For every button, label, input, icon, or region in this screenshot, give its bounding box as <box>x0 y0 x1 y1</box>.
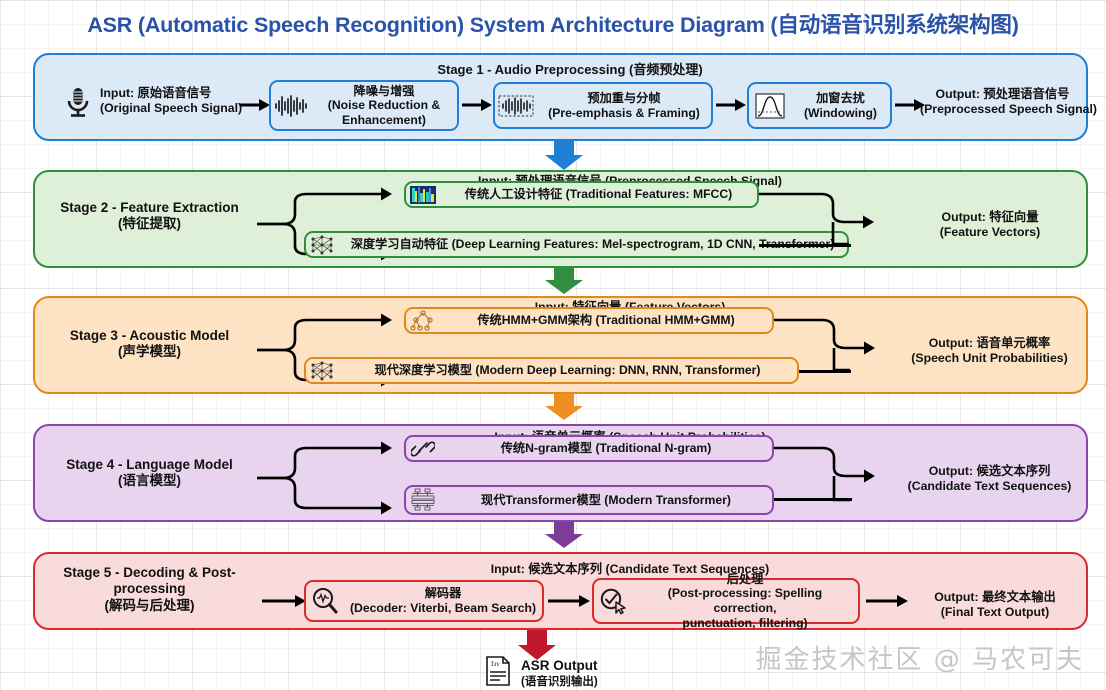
s4-out-line1: Output: 候选文本序列 <box>892 464 1087 479</box>
node-post-processing[interactable]: 后处理 (Post-processing: Spelling correctio… <box>592 578 860 624</box>
node-traditional-features-mfcc[interactable]: 传统人工设计特征 (Traditional Features: MFCC) <box>404 181 759 208</box>
spectrogram-icon <box>406 186 440 204</box>
s5-title-line2: processing <box>42 581 257 597</box>
stage-2-output-label: Output: 特征向量 (Feature Vectors) <box>900 210 1080 241</box>
page-title: ASR (Automatic Speech Recognition) Syste… <box>0 8 1106 39</box>
connector-stage3-to-stage4 <box>545 394 583 420</box>
connector-stage1-to-stage2 <box>545 141 583 170</box>
final-output-label: ASR Output (语音识别输出) <box>521 658 598 688</box>
pe-line1: 预加重与分帧 <box>587 91 660 105</box>
win-line2: (Windowing) <box>804 106 877 120</box>
s2-title-line2: (特征提取) <box>42 216 257 232</box>
window-curve-icon <box>749 92 791 120</box>
s5-title-line1: Stage 5 - Decoding & Post- <box>42 565 257 581</box>
node-windowing[interactable]: 加窗去扰 (Windowing) <box>747 82 892 129</box>
connector-stage2-to-stage3 <box>545 268 583 294</box>
stage-2-merge-connector <box>759 190 899 260</box>
s5-out-line1: Output: 最终文本输出 <box>905 590 1085 605</box>
s1-out-line2: (Preprocessed Speech Signal) <box>920 102 1085 117</box>
node-windowing-label: 加窗去扰 (Windowing) <box>791 91 890 120</box>
nr-line2: (Noise Reduction & <box>328 98 440 112</box>
node-pre-emphasis-label: 预加重与分帧 (Pre-emphasis & Framing) <box>537 91 711 120</box>
node-modern-transformer[interactable]: 现代Transformer模型 (Modern Transformer) <box>404 485 774 515</box>
connector-stage4-to-stage5 <box>545 522 583 548</box>
nr-line1: 降噪与增强 <box>354 84 415 98</box>
chain-link-icon <box>406 439 440 459</box>
stage-2-merge-lower-shaft <box>759 244 851 247</box>
tree-graph-icon <box>406 310 440 332</box>
node-modern-deep-learning-label: 现代深度学习模型 (Modern Deep Learning: DNN, RNN… <box>338 363 797 378</box>
pe-line2: (Pre-emphasis & Framing) <box>548 106 700 120</box>
dec-line2: (Decoder: Viterbi, Beam Search) <box>350 601 536 615</box>
stage-4-branch-connector <box>255 444 405 514</box>
stage-3-merge-lower-shaft <box>799 370 851 373</box>
s5-title-line3: (解码与后处理) <box>42 598 257 614</box>
asr-out-line1: ASR Output <box>521 658 598 673</box>
stage-1-header: Stage 1 - Audio Preprocessing (音频预处理) <box>410 59 730 78</box>
s2-out-line2: (Feature Vectors) <box>900 225 1080 240</box>
pp-line2: (Post-processing: Spelling correction, <box>668 586 822 615</box>
s3-title-line2: (声学模型) <box>42 344 257 360</box>
watermark: 掘金技术社区 @ 马农可夫 <box>755 639 1084 676</box>
stage-4-output-label: Output: 候选文本序列 (Candidate Text Sequences… <box>892 464 1087 495</box>
stage-3-output-label: Output: 语音单元概率 (Speech Unit Probabilitie… <box>892 336 1087 367</box>
check-cursor-icon <box>594 586 632 616</box>
node-traditional-n-gram-label: 传统N-gram模型 (Traditional N-gram) <box>440 441 772 456</box>
stage-3-merge-connector <box>774 316 904 386</box>
node-traditional-hmm-gmm[interactable]: 传统HMM+GMM架构 (Traditional HMM+GMM) <box>404 307 774 334</box>
neural-network-icon <box>306 360 338 382</box>
node-traditional-hmm-gmm-label: 传统HMM+GMM架构 (Traditional HMM+GMM) <box>440 313 772 328</box>
node-modern-deep-learning[interactable]: 现代深度学习模型 (Modern Deep Learning: DNN, RNN… <box>304 357 799 384</box>
s5-out-line2: (Final Text Output) <box>905 605 1085 620</box>
stage-1-output-label: Output: 预处理语音信号 (Preprocessed Speech Sig… <box>920 87 1085 118</box>
node-post-processing-label: 后处理 (Post-processing: Spelling correctio… <box>632 572 858 631</box>
transformer-diagram-icon <box>406 488 440 512</box>
node-traditional-features-label: 传统人工设计特征 (Traditional Features: MFCC) <box>440 187 757 202</box>
svg-text:Iɜv: Iɜv <box>491 660 500 668</box>
waveform-icon <box>271 94 311 118</box>
node-pre-emphasis-framing[interactable]: 预加重与分帧 (Pre-emphasis & Framing) <box>493 82 713 129</box>
s2-title-line1: Stage 2 - Feature Extraction <box>42 200 257 216</box>
stage-2-title: Stage 2 - Feature Extraction (特征提取) <box>42 200 257 233</box>
stage-4-merge-lower-shaft <box>774 498 852 501</box>
node-traditional-n-gram[interactable]: 传统N-gram模型 (Traditional N-gram) <box>404 435 774 462</box>
stage-5-output-label: Output: 最终文本输出 (Final Text Output) <box>905 590 1085 621</box>
node-decoder[interactable]: 解码器 (Decoder: Viterbi, Beam Search) <box>304 580 544 622</box>
node-noise-reduction-label: 降噪与增强 (Noise Reduction & Enhancement) <box>311 84 457 128</box>
s4-out-line2: (Candidate Text Sequences) <box>892 479 1087 494</box>
nr-line3: Enhancement) <box>342 113 426 127</box>
s4-title-line1: Stage 4 - Language Model <box>42 457 257 473</box>
win-line1: 加窗去扰 <box>816 91 865 105</box>
s3-title-line1: Stage 3 - Acoustic Model <box>42 328 257 344</box>
final-asr-output: Iɜv ASR Output (语音识别输出) <box>483 655 598 690</box>
microphone-icon <box>58 82 98 122</box>
pp-line1: 后处理 <box>727 572 764 586</box>
neural-network-icon <box>306 234 338 256</box>
node-decoder-label: 解码器 (Decoder: Viterbi, Beam Search) <box>344 586 542 615</box>
node-modern-transformer-label: 现代Transformer模型 (Modern Transformer) <box>440 493 772 508</box>
asr-out-line2: (语音识别输出) <box>521 675 598 689</box>
stage-4-title: Stage 4 - Language Model (语言模型) <box>42 457 257 490</box>
document-text-icon: Iɜv <box>483 655 513 690</box>
magnifier-waveform-icon <box>306 586 344 616</box>
s3-out-line1: Output: 语音单元概率 <box>892 336 1087 351</box>
s2-out-line1: Output: 特征向量 <box>900 210 1080 225</box>
dec-line1: 解码器 <box>425 586 462 600</box>
node-noise-reduction[interactable]: 降噪与增强 (Noise Reduction & Enhancement) <box>269 80 459 131</box>
stage-4-merge-connector <box>774 444 904 514</box>
s3-out-line2: (Speech Unit Probabilities) <box>892 351 1087 366</box>
s1-out-line1: Output: 预处理语音信号 <box>920 87 1085 102</box>
framing-waveform-icon <box>495 94 537 118</box>
stage-3-title: Stage 3 - Acoustic Model (声学模型) <box>42 328 257 361</box>
stage-5-title: Stage 5 - Decoding & Post- processing (解… <box>42 565 257 614</box>
s4-title-line2: (语言模型) <box>42 473 257 489</box>
pp-line3: punctuation, filtering) <box>682 616 807 630</box>
